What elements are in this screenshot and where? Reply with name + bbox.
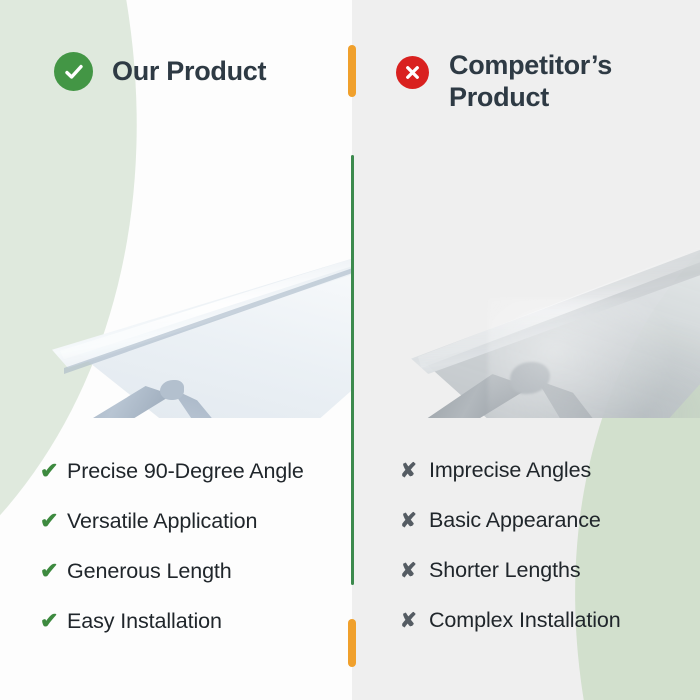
check-icon: ✔	[40, 510, 67, 532]
list-item-label: Generous Length	[67, 561, 232, 583]
our-product-title: Our Product	[112, 56, 266, 88]
list-item-label: Basic Appearance	[429, 510, 601, 532]
competitor-product-image	[378, 118, 700, 418]
product-bevel-left	[46, 386, 172, 418]
list-item-label: Imprecise Angles	[429, 460, 591, 482]
list-item-label: Shorter Lengths	[429, 560, 581, 582]
x-icon: ✘	[400, 561, 429, 581]
divider-accent-bottom	[348, 619, 356, 667]
list-item-label: Versatile Application	[67, 511, 257, 533]
list-item: ✔ Generous Length	[40, 560, 340, 610]
x-circle-icon	[396, 56, 429, 89]
x-icon: ✘	[400, 461, 429, 481]
product-corner-apex	[160, 380, 184, 400]
list-item-label: Precise 90-Degree Angle	[67, 461, 304, 483]
our-product-header: Our Product	[54, 50, 266, 91]
comparison-infographic: Our Product ✔ Precise 90-Degree Angle ✔ …	[0, 0, 700, 700]
list-item: ✔ Easy Installation	[40, 610, 340, 660]
x-icon: ✘	[400, 611, 429, 631]
x-icon: ✘	[400, 511, 429, 531]
our-product-image	[18, 118, 352, 418]
list-item: ✘ Imprecise Angles	[400, 460, 690, 510]
divider-accent-top	[348, 45, 356, 97]
competitor-product-feature-list: ✘ Imprecise Angles ✘ Basic Appearance ✘ …	[400, 460, 690, 660]
list-item: ✘ Shorter Lengths	[400, 560, 690, 610]
list-item-label: Easy Installation	[67, 611, 222, 633]
check-circle-icon	[54, 52, 93, 91]
product-surface-mottling	[488, 298, 700, 418]
list-item-label: Complex Installation	[429, 610, 621, 632]
list-item: ✘ Complex Installation	[400, 610, 690, 660]
center-divider-line	[351, 155, 354, 585]
list-item: ✔ Versatile Application	[40, 510, 340, 560]
competitor-product-header: Competitor’s Product	[396, 50, 679, 114]
check-icon: ✔	[40, 610, 67, 632]
list-item: ✔ Precise 90-Degree Angle	[40, 460, 340, 510]
check-icon: ✔	[40, 560, 67, 582]
our-product-feature-list: ✔ Precise 90-Degree Angle ✔ Versatile Ap…	[40, 460, 340, 660]
competitor-product-title: Competitor’s Product	[449, 50, 679, 114]
check-icon: ✔	[40, 460, 67, 482]
list-item: ✘ Basic Appearance	[400, 510, 690, 560]
our-product-panel: Our Product ✔ Precise 90-Degree Angle ✔ …	[0, 0, 352, 700]
